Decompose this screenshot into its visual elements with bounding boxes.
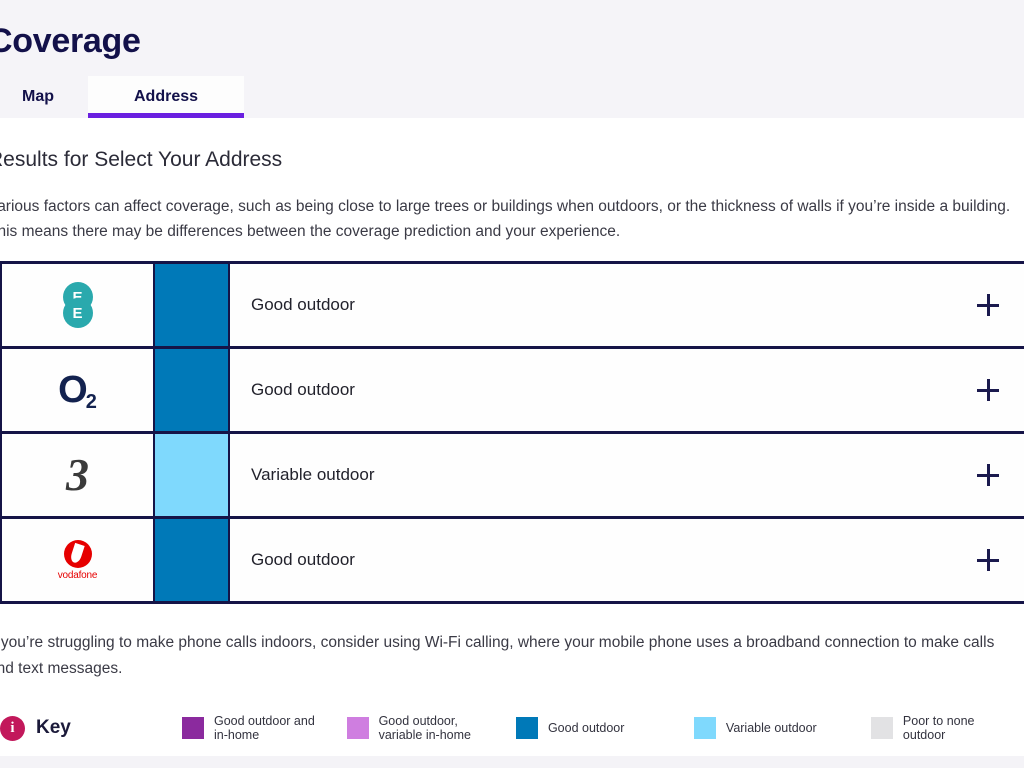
table-row: vodafone Good outdoor	[0, 519, 1024, 604]
plus-icon	[977, 464, 999, 486]
legend-label: Variable outdoor	[726, 721, 817, 736]
page-title: Coverage	[0, 22, 141, 61]
list-item: Poor to none outdoor	[871, 714, 1024, 743]
coverage-swatch	[153, 434, 230, 516]
tab-address[interactable]: Address	[88, 76, 244, 118]
legend-label-line1: Poor to none	[903, 714, 975, 728]
coverage-swatch	[153, 349, 230, 431]
coverage-page: Coverage Map Address Results for Select …	[0, 0, 1024, 768]
expand-row-button[interactable]	[952, 519, 1024, 601]
coverage-swatch	[153, 519, 230, 601]
legend-swatch	[347, 717, 369, 739]
legend-label-line2: in-home	[214, 728, 259, 742]
wifi-calling-note: If you’re struggling to make phone calls…	[0, 630, 1024, 682]
operator-logo-cell-three: 3	[0, 434, 153, 516]
vodafone-mark-icon	[64, 540, 92, 568]
coverage-status-text: Good outdoor	[230, 519, 952, 601]
table-row: O2 Good outdoor	[0, 349, 1024, 434]
operator-logo-cell-o2: O2	[0, 349, 153, 431]
coverage-results-table: E E Good outdoor O2 Good outdoor	[0, 261, 1024, 604]
legend-swatch	[694, 717, 716, 739]
legend-label-line2: variable in-home	[379, 728, 471, 742]
list-item: Good outdoor, variable in-home	[347, 714, 516, 743]
legend-item-list: Good outdoor and in-home Good outdoor, v…	[182, 714, 1024, 743]
legend-label: Good outdoor and in-home	[214, 714, 315, 743]
coverage-status-text: Good outdoor	[230, 349, 952, 431]
vodafone-wordmark: vodafone	[58, 570, 98, 581]
legend-label-line1: Good outdoor and	[214, 714, 315, 728]
plus-icon	[977, 379, 999, 401]
list-item: Good outdoor and in-home	[182, 714, 347, 743]
page-bottom-edge	[0, 756, 1024, 768]
coverage-status-text: Good outdoor	[230, 264, 952, 346]
ee-logo-icon: E E	[63, 282, 93, 328]
legend-label-line2: outdoor	[903, 728, 945, 742]
o2-logo-main: O	[58, 369, 87, 411]
list-item: Good outdoor	[516, 717, 694, 739]
key-label: Key	[36, 717, 71, 739]
results-heading: Results for Select Your Address	[0, 148, 282, 172]
legend-swatch	[871, 717, 893, 739]
coverage-intro-text: Various factors can affect coverage, suc…	[0, 194, 1012, 244]
legend-label-line1: Good outdoor,	[379, 714, 458, 728]
coverage-key-legend: i Key Good outdoor and in-home Good outd…	[0, 700, 1024, 756]
table-row: 3 Variable outdoor	[0, 434, 1024, 519]
o2-logo-sub: 2	[86, 391, 96, 413]
expand-row-button[interactable]	[952, 349, 1024, 431]
coverage-swatch	[153, 264, 230, 346]
info-icon[interactable]: i	[0, 716, 25, 741]
coverage-status-text: Variable outdoor	[230, 434, 952, 516]
tab-map[interactable]: Map	[0, 76, 88, 118]
expand-row-button[interactable]	[952, 434, 1024, 516]
tab-bar: Map Address	[0, 76, 244, 118]
o2-logo-icon: O2	[58, 369, 97, 412]
ee-logo-letter-bottom: E	[63, 298, 93, 328]
table-row: E E Good outdoor	[0, 264, 1024, 349]
key-label-group: i Key	[0, 716, 71, 741]
operator-logo-cell-vodafone: vodafone	[0, 519, 153, 601]
vodafone-logo-icon: vodafone	[58, 540, 98, 581]
legend-swatch	[516, 717, 538, 739]
legend-swatch	[182, 717, 204, 739]
operator-logo-cell-ee: E E	[0, 264, 153, 346]
legend-label: Good outdoor	[548, 721, 624, 736]
expand-row-button[interactable]	[952, 264, 1024, 346]
plus-icon	[977, 294, 999, 316]
plus-icon	[977, 549, 999, 571]
legend-label: Poor to none outdoor	[903, 714, 975, 743]
list-item: Variable outdoor	[694, 717, 871, 739]
legend-label: Good outdoor, variable in-home	[379, 714, 471, 743]
three-logo-icon: 3	[66, 452, 89, 498]
